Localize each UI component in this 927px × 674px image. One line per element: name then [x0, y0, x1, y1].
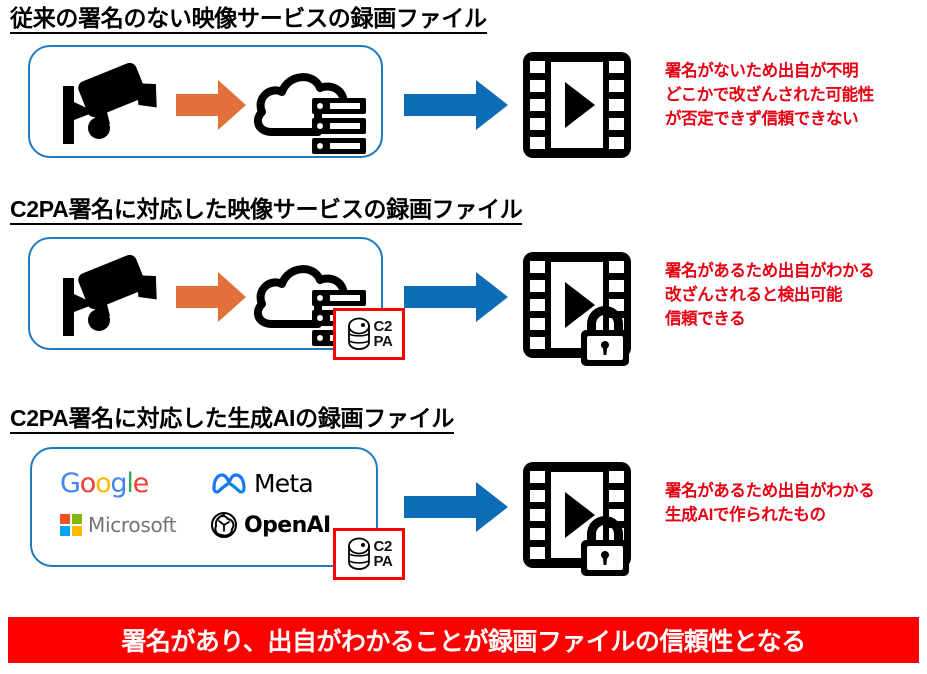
section-title-c2pa-ai: C2PA署名に対応した生成AIの録画ファイル	[10, 405, 454, 434]
note-legacy: 署名がないため出自が不明 どこかで改ざんされた可能性 が否定できず信頼できない	[665, 60, 874, 132]
brand-logo-grid: Google Meta Microsoft OpenAI	[60, 462, 350, 546]
openai-logo: OpenAI	[210, 511, 350, 539]
blue-arrow-icon-2	[404, 270, 510, 324]
summary-banner-text: 署名があり、出自がわかることが録画ファイルの信頼性となる	[121, 622, 805, 658]
c2pa-line-1: C2	[374, 539, 393, 554]
film-play-lock-icon	[521, 460, 645, 578]
section-title-legacy: 従来の署名のない映像サービスの録画ファイル	[10, 5, 487, 34]
microsoft-squares-icon	[60, 514, 82, 536]
google-letter-g: g	[110, 468, 126, 499]
c2pa-line-1: C2	[374, 319, 393, 334]
c2pa-pin-icon	[346, 317, 372, 351]
c2pa-badge: C2 PA	[333, 308, 405, 360]
blue-arrow-icon-1	[404, 78, 510, 132]
c2pa-pin-icon	[346, 537, 372, 571]
summary-banner: 署名があり、出自がわかることが録画ファイルの信頼性となる	[8, 617, 919, 663]
google-letter-G: G	[60, 468, 80, 499]
cloud-server-icon	[252, 60, 372, 155]
film-play-icon	[521, 50, 633, 160]
google-logo: Google	[60, 468, 210, 499]
note-c2pa-video: 署名があるため出自がわかる 改ざんされると検出可能 信頼できる	[665, 260, 874, 332]
c2pa-badge-text: C2 PA	[374, 319, 393, 349]
openai-wordmark: OpenAI	[244, 513, 331, 538]
meta-wordmark: Meta	[254, 469, 313, 498]
microsoft-logo: Microsoft	[60, 513, 210, 537]
google-letter-e: e	[133, 468, 148, 499]
surveillance-camera-icon	[55, 250, 170, 348]
orange-arrow-icon	[176, 78, 248, 132]
meta-infinity-icon	[210, 471, 248, 495]
c2pa-badge-text: C2 PA	[374, 539, 393, 569]
note-c2pa-ai: 署名があるため出自がわかる 生成AIで作られたもの	[665, 480, 874, 528]
meta-logo: Meta	[210, 469, 350, 498]
google-letter-o2: o	[95, 468, 110, 499]
c2pa-line-2: PA	[374, 334, 393, 349]
blue-arrow-icon-3	[404, 480, 510, 534]
c2pa-badge: C2 PA	[333, 528, 405, 580]
film-play-lock-icon	[521, 250, 645, 368]
orange-arrow-icon	[176, 270, 248, 324]
surveillance-camera-icon	[55, 58, 170, 156]
section-title-c2pa-video: C2PA署名に対応した映像サービスの録画ファイル	[10, 196, 522, 225]
microsoft-wordmark: Microsoft	[88, 513, 176, 537]
infographic-canvas: 従来の署名のない映像サービスの録画ファイル	[0, 0, 927, 674]
google-letter-o1: o	[80, 468, 95, 499]
openai-blossom-icon	[210, 511, 238, 539]
c2pa-line-2: PA	[374, 554, 393, 569]
google-wordmark: Google	[60, 468, 148, 499]
